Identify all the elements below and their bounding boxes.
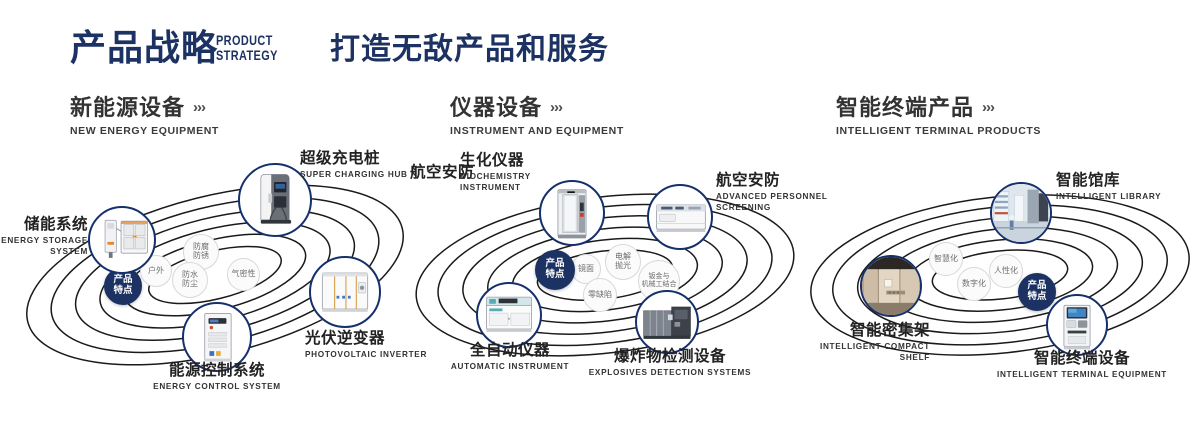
chevrons-right-icon: ››› — [982, 96, 994, 120]
product-label-explosives-detection: 爆炸物检测设备 EXPLOSIVES DETECTION SYSTEMS — [575, 348, 765, 378]
pv-inverter-icon — [311, 258, 379, 326]
product-node-automatic-instrument[interactable] — [476, 282, 542, 348]
control-cabinet-icon — [184, 304, 250, 370]
page-header: 产品战略 PRODUCT STRATEGY 打造无敌产品和服务 — [0, 0, 1200, 90]
section-title-new-energy: 新能源设备››› — [70, 96, 219, 120]
screening-machine-icon — [649, 186, 711, 248]
product-label-intelligent-library: 智能馆库 INTELLIGENT LIBRARY — [1056, 172, 1196, 202]
product-label-automatic-instrument: 全自动仪器 AUTOMATIC INSTRUMENT — [420, 342, 600, 372]
storage-cabinet-icon — [90, 208, 154, 272]
page-root: 产品战略 PRODUCT STRATEGY 打造无敌产品和服务 新能源设备›››… — [0, 0, 1200, 422]
section-heading-intelligent-terminal: 智能终端产品››› INTELLIGENT TERMINAL PRODUCTS — [836, 96, 1041, 137]
product-label-en: INTELLIGENT COMPACTSHELF — [780, 341, 930, 363]
product-label-compact-shelf: 智能密集架 INTELLIGENT COMPACTSHELF — [780, 322, 930, 363]
feature-bubble-humanized: 人性化 — [989, 254, 1023, 288]
product-label-cn: 储能系统 — [0, 216, 88, 233]
feature-bubble-line: 机械工结合 — [642, 281, 677, 289]
product-label-cn: 智能密集架 — [780, 322, 930, 339]
feature-bubble-line: 防锈 — [193, 252, 209, 261]
product-label-en: ENERGY CONTROL SYSTEM — [112, 381, 322, 392]
feature-bubble-line: 人性化 — [994, 267, 1018, 276]
product-node-intelligent-library[interactable] — [990, 182, 1052, 244]
product-label-en: INTELLIGENT TERMINAL EQUIPMENT — [982, 369, 1182, 380]
product-label-en: BIOCHEMISTRYINSTRUMENT — [460, 171, 580, 193]
library-room-icon — [992, 184, 1050, 242]
product-label-terminal-equipment: 智能终端设备 INTELLIGENT TERMINAL EQUIPMENT — [982, 350, 1182, 380]
feature-bubble-line: 智慧化 — [934, 255, 958, 264]
page-title-english-line1: PRODUCT — [216, 33, 278, 48]
section-title-intelligent-terminal: 智能终端产品››› — [836, 96, 1041, 120]
auto-analyzer-icon — [478, 284, 540, 346]
feature-bubble-electropolish: 电解 抛光 — [605, 244, 641, 280]
product-label-en: EXPLOSIVES DETECTION SYSTEMS — [575, 367, 765, 378]
section-title-text: 仪器设备 — [450, 95, 542, 120]
section-title-instrument: 仪器设备››› — [450, 96, 624, 120]
center-bubble-line2: 特点 — [545, 270, 564, 281]
product-label-cn: 全自动仪器 — [420, 342, 600, 359]
center-bubble-line2: 特点 — [1027, 292, 1046, 303]
diagram-cluster-new-energy: 防腐 防锈 户外 气密性 防水 防尘 产品 特点 — [0, 150, 410, 412]
section-heading-new-energy: 新能源设备››› NEW ENERGY EQUIPMENT — [70, 96, 219, 137]
section-subtitle-instrument: INSTRUMENT AND EQUIPMENT — [450, 125, 624, 137]
page-title: 产品战略 — [70, 28, 218, 68]
chevrons-right-icon: ››› — [193, 96, 205, 120]
product-node-personnel-screening[interactable] — [647, 184, 713, 250]
section-subtitle-new-energy: NEW ENERGY EQUIPMENT — [70, 125, 219, 137]
product-label-cn: 智能馆库 — [1056, 172, 1196, 189]
feature-bubble-line: 镜面 — [578, 265, 594, 274]
diagram-cluster-intelligent-terminal: 智慧化 数字化 人性化 产品 特点 — [800, 150, 1200, 412]
feature-bubble-line: 数字化 — [962, 280, 986, 289]
product-label-en: ENERGY STORAGESYSTEM — [0, 235, 88, 257]
section-title-text: 新能源设备 — [70, 95, 185, 120]
feature-bubble-line: 防尘 — [182, 280, 198, 289]
self-service-kiosk-icon — [1048, 296, 1106, 354]
product-label-cn: 爆炸物检测设备 — [575, 348, 765, 365]
product-node-terminal-equipment[interactable] — [1046, 294, 1108, 356]
product-label-cn: 生化仪器 — [460, 152, 580, 169]
feature-bubble-line: 抛光 — [615, 262, 631, 271]
feature-bubble-line: 气密性 — [232, 270, 256, 279]
page-title-english-line2: STRATEGY — [216, 48, 278, 63]
diagram-cluster-instrument: 镜面 电解 抛光 钣金与 机械工结合 零缺陷 产品 特点 航空安防 — [400, 150, 810, 412]
explosive-detector-icon — [637, 292, 697, 352]
page-title-english: PRODUCT STRATEGY — [216, 33, 278, 63]
product-label-biochemistry-instrument: 生化仪器 BIOCHEMISTRYINSTRUMENT — [460, 152, 580, 193]
feature-bubble-line: 零缺陷 — [588, 291, 612, 300]
compact-shelf-icon — [862, 257, 920, 315]
section-heading-instrument: 仪器设备››› INSTRUMENT AND EQUIPMENT — [450, 96, 624, 137]
product-label-energy-storage: 储能系统 ENERGY STORAGESYSTEM — [0, 216, 88, 257]
section-title-text: 智能终端产品 — [836, 95, 974, 120]
product-node-energy-storage[interactable] — [88, 206, 156, 274]
product-label-energy-control: 能源控制系统 ENERGY CONTROL SYSTEM — [112, 362, 322, 392]
feature-bubble-airtight: 气密性 — [227, 258, 260, 291]
feature-bubble-waterproof: 防水 防尘 — [172, 262, 208, 298]
center-bubble-product-features: 产品 特点 — [535, 250, 575, 290]
product-label-en: INTELLIGENT LIBRARY — [1056, 191, 1196, 202]
product-node-compact-shelf[interactable] — [860, 255, 922, 317]
center-bubble-line2: 特点 — [113, 286, 132, 297]
chevrons-right-icon: ››› — [550, 96, 562, 120]
page-subtitle: 打造无敌产品和服务 — [330, 30, 609, 70]
product-label-cn: 智能终端设备 — [982, 350, 1182, 367]
product-node-pv-inverter[interactable] — [309, 256, 381, 328]
feature-bubble-zerodefect: 零缺陷 — [583, 278, 617, 312]
product-label-cn: 能源控制系统 — [112, 362, 322, 379]
product-node-explosives-detection[interactable] — [635, 290, 699, 354]
section-subtitle-intelligent-terminal: INTELLIGENT TERMINAL PRODUCTS — [836, 125, 1041, 137]
feature-bubble-digital: 数字化 — [957, 267, 991, 301]
feature-bubble-smart: 智慧化 — [929, 242, 963, 276]
feature-bubble-line: 钣金与 — [642, 273, 677, 281]
product-label-en: AUTOMATIC INSTRUMENT — [420, 361, 600, 372]
